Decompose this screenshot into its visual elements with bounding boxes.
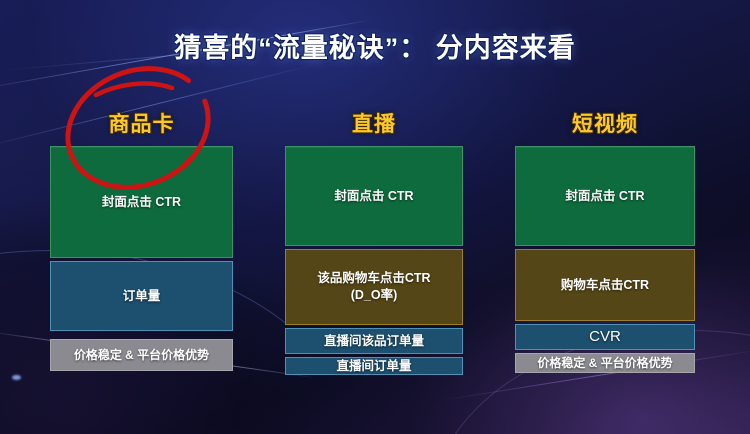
metric-label-line-1: 该品购物车点击CTR — [317, 270, 430, 287]
metric-block-cover-click-ctr[interactable]: 封面点击 CTR — [285, 146, 463, 246]
metric-block-cart-click-ctr[interactable]: 该品购物车点击CTR (D_O率) — [285, 249, 463, 325]
column-header-label: 商品卡 — [50, 112, 233, 138]
column-short-video: 短视频 封面点击 CTR 购物车点击CTR CVR 价格稳定 & 平台价格优势 — [515, 112, 695, 373]
metric-label-line-2: (D_O率) — [351, 287, 398, 304]
background-light-dot — [12, 375, 21, 380]
metric-block-price-stability[interactable]: 价格稳定 & 平台价格优势 — [515, 353, 695, 373]
column-product-card: 商品卡 封面点击 CTR 订单量 价格稳定 & 平台价格优势 — [50, 112, 233, 371]
page-title: 猜喜的“流量秘诀”： 分内容来看 — [0, 26, 750, 65]
column-live-stream: 直播 封面点击 CTR 该品购物车点击CTR (D_O率) 直播间该品订单量 直… — [285, 112, 463, 375]
metric-block-cover-click-ctr[interactable]: 封面点击 CTR — [50, 146, 233, 258]
metric-stack: 封面点击 CTR 购物车点击CTR CVR 价格稳定 & 平台价格优势 — [515, 146, 695, 373]
metric-block-cvr[interactable]: CVR — [515, 324, 695, 350]
metric-block-live-room-item-orders[interactable]: 直播间该品订单量 — [285, 328, 463, 354]
metric-stack: 封面点击 CTR 该品购物车点击CTR (D_O率) 直播间该品订单量 直播间订… — [285, 146, 463, 375]
metric-block-cover-click-ctr[interactable]: 封面点击 CTR — [515, 146, 695, 246]
metric-block-cart-click-ctr[interactable]: 购物车点击CTR — [515, 249, 695, 321]
metric-block-live-room-orders[interactable]: 直播间订单量 — [285, 357, 463, 375]
metric-block-price-stability[interactable]: 价格稳定 & 平台价格优势 — [50, 339, 233, 371]
column-header-label: 短视频 — [515, 112, 695, 138]
metric-block-order-volume[interactable]: 订单量 — [50, 261, 233, 331]
metric-stack: 封面点击 CTR 订单量 价格稳定 & 平台价格优势 — [50, 146, 233, 371]
slide-canvas: 猜喜的“流量秘诀”： 分内容来看 商品卡 封面点击 CTR 订单量 价格稳定 &… — [0, 0, 750, 434]
column-header-label: 直播 — [285, 112, 463, 138]
